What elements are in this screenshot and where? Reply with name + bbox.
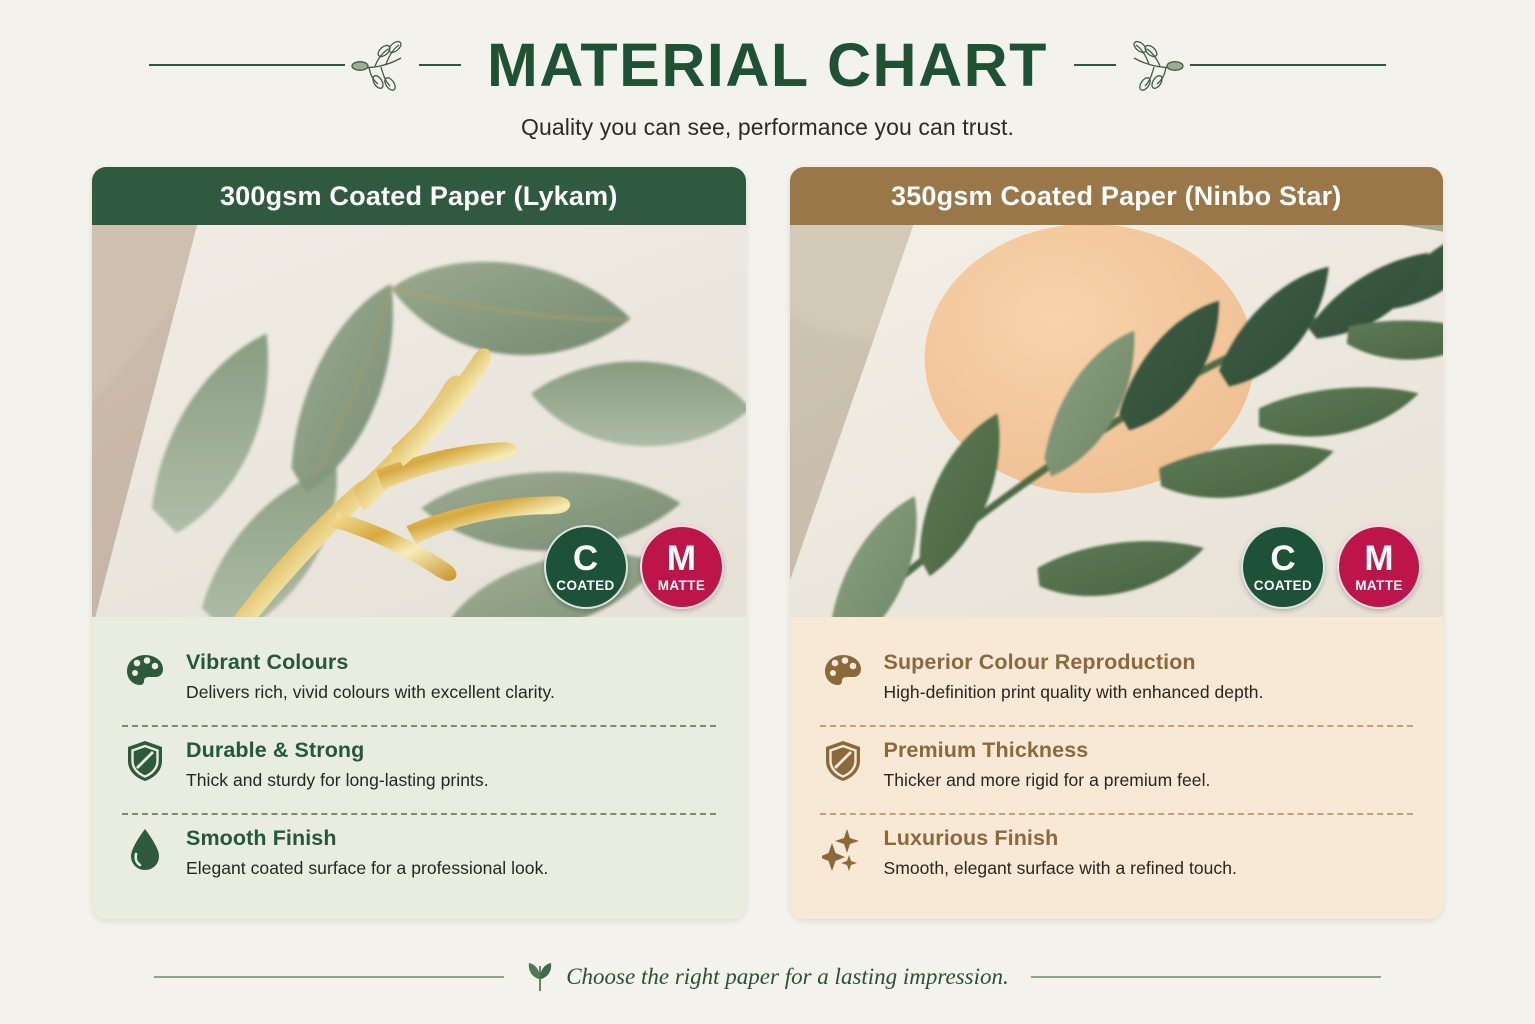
feature-text: Premium Thickness Thicker and more rigid… [884,737,1211,791]
shield-icon [124,739,166,783]
feature-title: Smooth Finish [186,826,548,851]
title-row: MATERIAL CHART [0,26,1535,104]
feature-item[interactable]: Smooth Finish Elegant coated surface for… [118,815,720,901]
material-cards: 300gsm Coated Paper (Lykam) [0,141,1535,919]
feature-desc: High-definition print quality with enhan… [884,682,1264,703]
feature-title: Premium Thickness [884,738,1211,763]
footer-content: Choose the right paper for a lasting imp… [526,962,1009,992]
feature-item[interactable]: Luxurious Finish Smooth, elegant surface… [816,815,1418,901]
feature-list-300gsm: Vibrant Colours Delivers rich, vivid col… [92,617,746,919]
leaf-branch-ornament-right-icon [1116,36,1190,94]
matte-badge-caption: MATTE [658,578,706,593]
card-photo-300gsm: C COATED M MATTE [92,225,746,617]
feature-text: Smooth Finish Elegant coated surface for… [186,825,548,879]
palette-icon [124,651,166,695]
page-header: MATERIAL CHART Quality you can see, perf… [0,0,1535,141]
sparkle-icon [822,827,864,871]
coated-badge-300gsm[interactable]: C COATED [544,525,628,609]
matte-badge-300gsm[interactable]: M MATTE [640,525,724,609]
matte-badge-glyph: M [667,543,696,575]
shield-icon [822,739,864,783]
page-subtitle: Quality you can see, performance you can… [0,114,1535,141]
feature-desc: Thick and sturdy for long-lasting prints… [186,770,489,791]
coated-badge-glyph: C [1270,543,1295,575]
feature-text: Luxurious Finish Smooth, elegant surface… [884,825,1237,879]
card-title-350gsm: 350gsm Coated Paper (Ninbo Star) [790,167,1444,225]
leaf-branch-ornament-left-icon [345,36,419,94]
card-title-300gsm: 300gsm Coated Paper (Lykam) [92,167,746,225]
matte-badge-caption: MATTE [1355,578,1403,593]
palette-icon [822,651,864,695]
footer-text: Choose the right paper for a lasting imp… [566,964,1009,990]
feature-title: Durable & Strong [186,738,489,763]
feature-text: Durable & Strong Thick and sturdy for lo… [186,737,489,791]
feature-desc: Thicker and more rigid for a premium fee… [884,770,1211,791]
material-card-300gsm[interactable]: 300gsm Coated Paper (Lykam) [92,167,746,919]
card-photo-350gsm: C COATED M MATTE [790,225,1444,617]
feature-item[interactable]: Superior Colour Reproduction High-defini… [816,639,1418,725]
divider-right-short [1074,64,1116,66]
material-card-350gsm[interactable]: 350gsm Coated Paper (Ninbo Star) [790,167,1444,919]
divider-left-long [149,64,345,66]
feature-desc: Elegant coated surface for a professiona… [186,858,548,879]
page-footer: Choose the right paper for a lasting imp… [0,962,1535,992]
matte-badge-glyph: M [1364,543,1393,575]
feature-desc: Smooth, elegant surface with a refined t… [884,858,1237,879]
feature-title: Superior Colour Reproduction [884,650,1264,675]
divider-left-short [419,64,461,66]
badge-group-350gsm: C COATED M MATTE [1241,525,1421,609]
coated-badge-glyph: C [573,543,598,575]
feature-item[interactable]: Premium Thickness Thicker and more rigid… [816,727,1418,813]
feature-item[interactable]: Durable & Strong Thick and sturdy for lo… [118,727,720,813]
badge-group-300gsm: C COATED M MATTE [544,525,724,609]
coated-badge-caption: COATED [1254,578,1312,593]
coated-badge-caption: COATED [556,578,614,593]
feature-title: Vibrant Colours [186,650,555,675]
feature-text: Vibrant Colours Delivers rich, vivid col… [186,649,555,703]
feature-text: Superior Colour Reproduction High-defini… [884,649,1264,703]
feature-list-350gsm: Superior Colour Reproduction High-defini… [790,617,1444,919]
footer-rule-left [154,976,504,978]
divider-right-long [1190,64,1386,66]
footer-rule-right [1031,976,1381,978]
feature-item[interactable]: Vibrant Colours Delivers rich, vivid col… [118,639,720,725]
droplet-icon [124,827,166,871]
coated-badge-350gsm[interactable]: C COATED [1241,525,1325,609]
matte-badge-350gsm[interactable]: M MATTE [1337,525,1421,609]
leaf-icon [526,962,554,992]
feature-title: Luxurious Finish [884,826,1237,851]
feature-desc: Delivers rich, vivid colours with excell… [186,682,555,703]
page-title: MATERIAL CHART [461,30,1074,100]
